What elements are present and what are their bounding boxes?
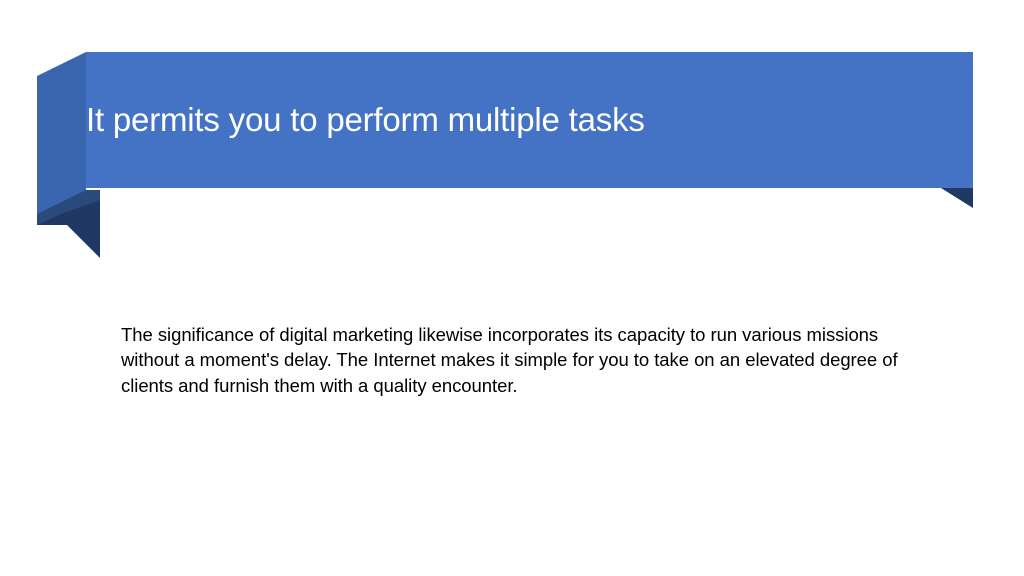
ribbon-banner: It permits you to perform multiple tasks — [0, 0, 1024, 280]
body-paragraph: The significance of digital marketing li… — [121, 322, 921, 399]
slide-title: It permits you to perform multiple tasks — [86, 92, 956, 148]
ribbon-left-strip — [37, 52, 86, 214]
slide-canvas: It permits you to perform multiple tasks… — [0, 0, 1024, 576]
ribbon-right-fold-icon — [941, 188, 973, 208]
